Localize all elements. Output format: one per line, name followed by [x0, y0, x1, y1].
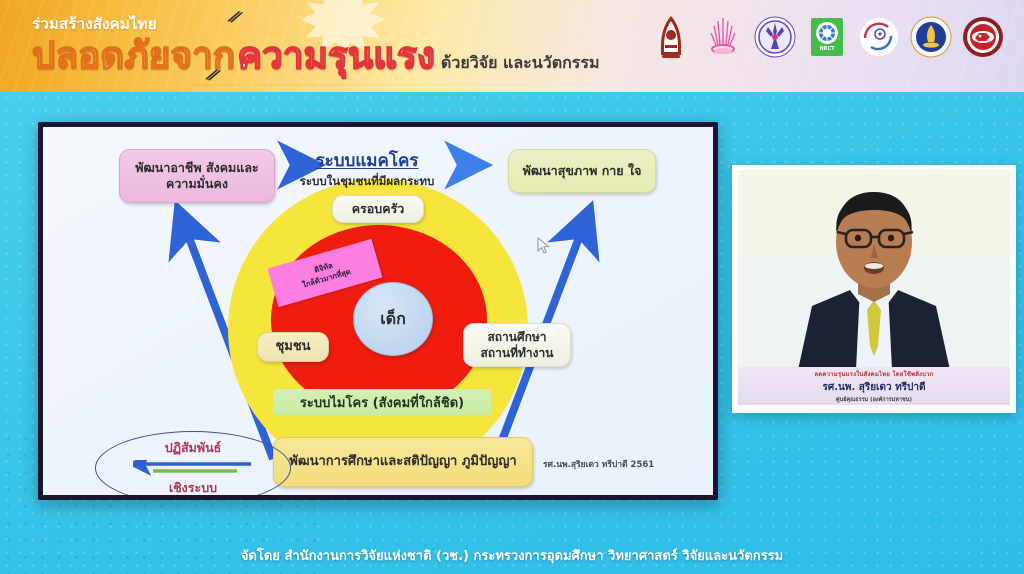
headline-main-a: ปลอดภัยจาก — [32, 37, 235, 74]
micro-system-label: ระบบไมโคร (สังคมที่ใกล้ชิด) — [273, 389, 491, 415]
logo-strip: NRCT — [650, 14, 1004, 60]
caption-organization: ศูนย์คุณธรรม (องค์การมหาชน) — [836, 396, 912, 404]
headline: ร่วมสร้างสังคมไทย ปลอดภัยจาก ความรุนแรง … — [32, 12, 600, 74]
thaihealth-logo — [858, 14, 900, 60]
king-mongkut-logo — [754, 14, 796, 60]
footer-organization: สำนักงานการวิจัยแห่งชาติ (วช.) — [284, 549, 469, 564]
outer-box-health: พัฒนาสุขภาพ กาย ใจ — [508, 149, 656, 193]
legend-ellipse: ปฏิสัมพันธ์ เชิงระบบ — [95, 431, 291, 495]
outer-box-career: พัฒนาอาชีพ สังคมและ ความมั่นคง — [119, 149, 275, 203]
presenter-video-feed[interactable] — [738, 170, 1010, 370]
node-school-workplace: สถานศึกษา สถานที่ทำงาน — [463, 323, 571, 367]
node-family-label: ครอบครัว — [352, 201, 405, 217]
presenter-video-panel[interactable]: ลดความรุนแรงในสังคมไทย โดยใช้พลังบวก รศ.… — [732, 165, 1016, 413]
node-child-label: เด็ก — [380, 309, 406, 329]
macro-system-sublabel: ระบบในชุมชนที่มีผลกระทบ — [252, 173, 482, 191]
outer-box-education: พัฒนาการศึกษาและสติปัญญา ภูมิปัญญา — [273, 437, 533, 487]
outer-box-education-label: พัฒนาการศึกษาและสติปัญญา ภูมิปัญญา — [289, 454, 516, 471]
node-community-label: ชุมชน — [275, 339, 310, 356]
headline-tail: ด้วยวิจัย และนวัตกรรม — [441, 55, 600, 74]
caption-topic: ลดความรุนแรงในสังคมไทย โดยใช้พลังบวก — [814, 369, 933, 379]
footer-prefix: จัดโดย — [241, 549, 285, 564]
footer-ministry: กระทรวงการอุดมศึกษา วิทยาศาสตร์ วิจัยและ… — [469, 549, 783, 564]
headline-small: ร่วมสร้างสังคมไทย — [32, 12, 600, 36]
node-school-line1: สถานศึกษา — [487, 329, 546, 345]
nrct-logo: NRCT — [806, 14, 848, 60]
caption-name: รศ.นพ. สุริยเดว ทรีปาตี — [823, 380, 926, 395]
presenter-portrait — [738, 170, 1010, 370]
ministry-logo — [910, 14, 952, 60]
mouse-cursor-icon — [537, 237, 551, 255]
outer-box-career-label: พัฒนาอาชีพ สังคมและ ความมั่นคง — [135, 160, 258, 192]
svg-text:NRCT: NRCT — [819, 46, 835, 52]
legend-top-label: ปฏิสัมพันธ์ — [165, 438, 222, 458]
node-family: ครอบครัว — [332, 195, 424, 223]
footer-credit: จัดโดย สำนักงานการวิจัยแห่งชาติ (วช.) กร… — [0, 545, 1024, 566]
chulalongkorn-university-logo — [702, 14, 744, 60]
outer-box-health-label: พัฒนาสุขภาพ กาย ใจ — [523, 163, 642, 179]
royal-emblem-logo — [650, 14, 692, 60]
research-council-logo — [962, 14, 1004, 60]
slide-credit: รศ.นพ.สุริยเดว ทรีปาตี 2561 — [543, 457, 654, 471]
node-school-line2: สถานที่ทำงาน — [481, 345, 554, 361]
node-child: เด็ก — [353, 282, 433, 356]
legend-arrows — [133, 460, 253, 476]
slide-frame: ระบบแมคโคร ระบบในชุมชนที่มีผลกระทบ พัฒนา… — [38, 122, 718, 500]
presenter-caption: ลดความรุนแรงในสังคมไทย โดยใช้พลังบวก รศ.… — [738, 367, 1010, 405]
macro-system-label: ระบบแมคโคร — [272, 147, 462, 174]
presentation-screen: ⁄⁄ ⁄⁄ ร่วมสร้างสังคมไทย ปลอดภัยจาก ความร… — [0, 0, 1024, 574]
slide-content: ระบบแมคโคร ระบบในชุมชนที่มีผลกระทบ พัฒนา… — [43, 127, 713, 495]
headline-main-b: ความรุนแรง — [237, 37, 435, 74]
node-community: ชุมชน — [257, 332, 329, 362]
header-banner: ⁄⁄ ⁄⁄ ร่วมสร้างสังคมไทย ปลอดภัยจาก ความร… — [0, 0, 1024, 92]
legend-bottom-label: เชิงระบบ — [169, 478, 217, 495]
